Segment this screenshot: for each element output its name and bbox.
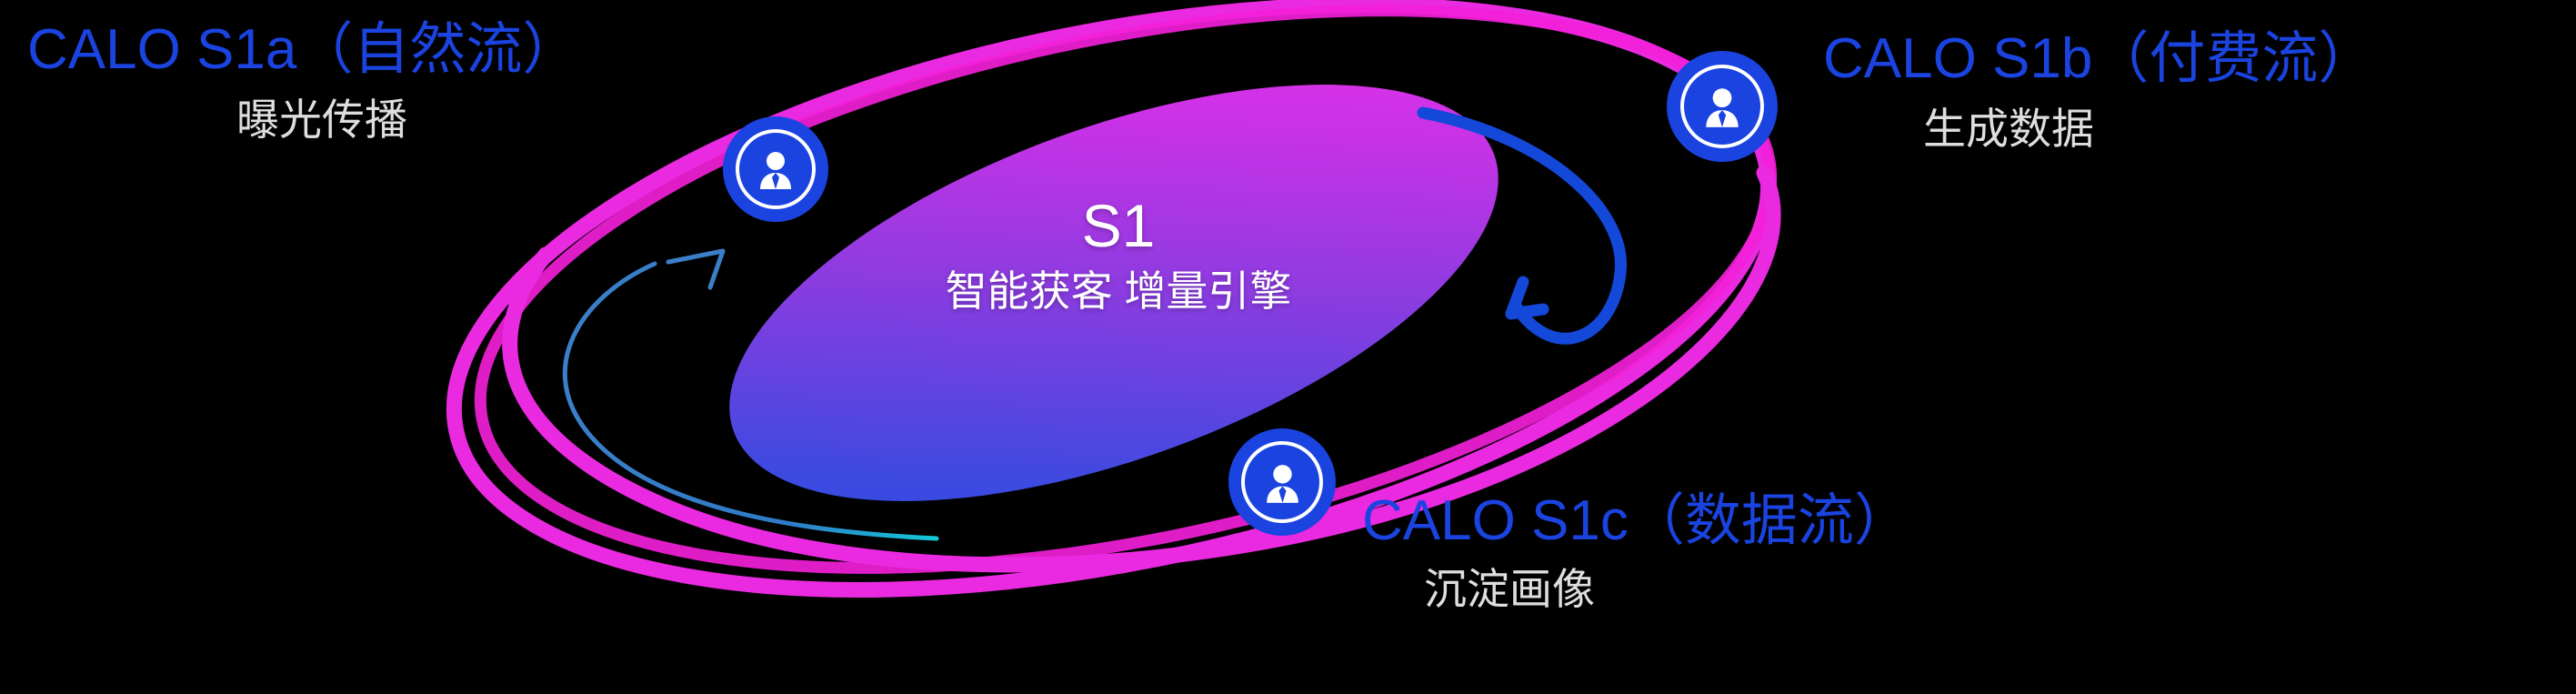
node-s1a[interactable] (723, 116, 828, 222)
diagram-canvas: S1 智能获客 增量引擎 CALO S1a（自然流） 曝光传播 CALO S1b… (0, 0, 2576, 694)
label-group-s1a: CALO S1a（自然流） 曝光传播 (27, 20, 578, 142)
label-subtitle-s1a: 曝光传播 (236, 97, 578, 142)
label-title-s1a: CALO S1a（自然流） (27, 20, 578, 79)
user-business-icon (752, 146, 799, 193)
label-title-s1b: CALO S1b（付费流） (1823, 29, 2374, 88)
label-group-s1c: CALO S1c（数据流） 沉淀画像 (1362, 491, 1910, 611)
label-subtitle-s1c: 沉淀画像 (1424, 567, 1910, 611)
node-s1b[interactable] (1667, 51, 1778, 162)
user-business-icon (1258, 458, 1307, 507)
label-subtitle-s1b: 生成数据 (1923, 106, 2374, 151)
label-group-s1b: CALO S1b（付费流） 生成数据 (1823, 29, 2374, 151)
user-business-icon (1698, 82, 1747, 131)
label-title-s1c: CALO S1c（数据流） (1362, 491, 1910, 550)
node-s1c[interactable] (1228, 428, 1336, 536)
